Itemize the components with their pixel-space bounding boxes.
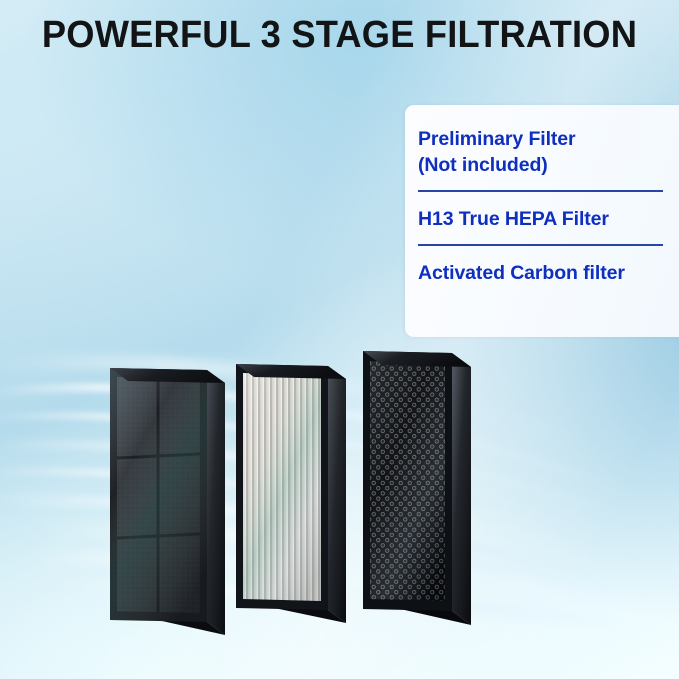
- hepa-side-edge: [328, 366, 346, 623]
- prefilter-side-edge: [207, 370, 225, 635]
- stage-label-preliminary-line2: (Not included): [418, 152, 671, 178]
- page-title: POWERFUL 3 STAGE FILTRATION: [15, 13, 663, 57]
- carbon-honeycomb-shade: [370, 361, 445, 601]
- stage-label-preliminary-line1: Preliminary Filter: [418, 126, 671, 152]
- panel-divider-1: [418, 190, 663, 192]
- stage-label-preliminary: Preliminary Filter (Not included): [418, 126, 671, 178]
- filter-hepa: [228, 348, 363, 648]
- stage-label-carbon-line1: Activated Carbon filter: [418, 260, 671, 286]
- stage-label-hepa: H13 True HEPA Filter: [418, 206, 671, 232]
- prefilter-sheen: [110, 368, 207, 622]
- hepa-pleat-shade: [243, 373, 321, 601]
- carbon-side-edge: [452, 353, 471, 625]
- filter-preliminary: [95, 350, 240, 660]
- stage-label-hepa-line1: H13 True HEPA Filter: [418, 206, 671, 232]
- filter-carbon: [358, 340, 483, 650]
- stage-label-carbon: Activated Carbon filter: [418, 260, 671, 286]
- filter-stage-panel: Preliminary Filter (Not included) H13 Tr…: [405, 105, 679, 337]
- panel-divider-2: [418, 244, 663, 246]
